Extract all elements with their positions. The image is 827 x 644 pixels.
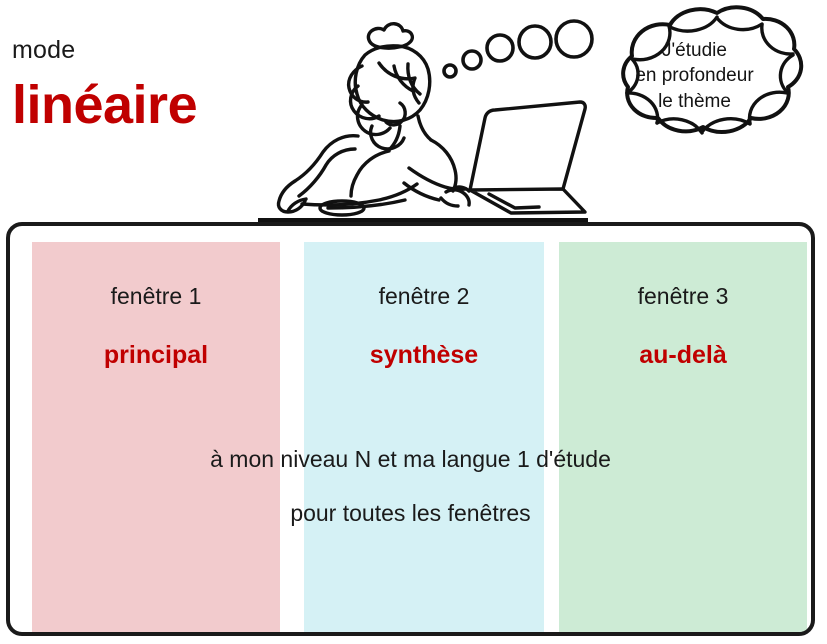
window-panel-2-name: synthèse bbox=[304, 343, 544, 368]
window-panel-3-name: au-delà bbox=[559, 343, 807, 368]
window-panel-2-title: fenêtre 2 bbox=[304, 285, 544, 308]
window-panel-1[interactable]: fenêtre 1 principal bbox=[32, 242, 280, 632]
window-panel-3[interactable]: fenêtre 3 au-delà bbox=[559, 242, 807, 632]
thought-bubble-text: J'étudie en profondeur le thème bbox=[592, 38, 797, 114]
mode-label: mode bbox=[12, 38, 75, 63]
header-area: mode linéaire bbox=[0, 0, 827, 222]
panels-row: fenêtre 1 principal fenêtre 2 synthèse f… bbox=[10, 226, 811, 632]
window-panel-2[interactable]: fenêtre 2 synthèse bbox=[304, 242, 544, 632]
thought-line-3: le thème bbox=[592, 89, 797, 114]
thought-line-1: J'étudie bbox=[592, 38, 797, 63]
window-panel-1-title: fenêtre 1 bbox=[32, 285, 280, 308]
thought-line-2: en profondeur bbox=[592, 63, 797, 88]
windows-container: fenêtre 1 principal fenêtre 2 synthèse f… bbox=[6, 222, 815, 636]
window-panel-1-name: principal bbox=[32, 343, 280, 368]
window-panel-3-title: fenêtre 3 bbox=[559, 285, 807, 308]
mode-value: linéaire bbox=[12, 78, 197, 132]
